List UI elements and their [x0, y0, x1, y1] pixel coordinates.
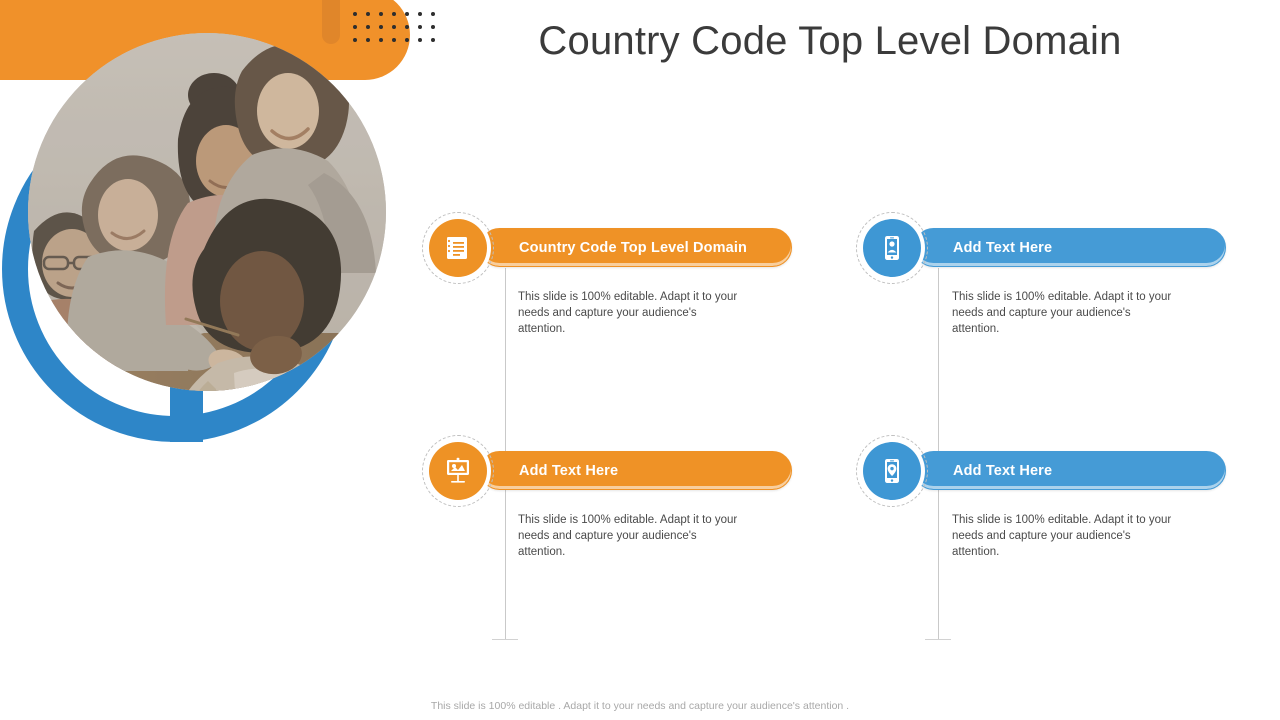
mobile-location-icon[interactable]: [863, 442, 921, 500]
card-3-header-pill[interactable]: Add Text Here: [480, 451, 792, 490]
orange-tab-decor: [322, 0, 340, 44]
card-2-header-pill[interactable]: Add Text Here: [914, 228, 1226, 267]
card-1-header-pill[interactable]: Country Code Top Level Domain: [480, 228, 792, 267]
card-1-title: Country Code Top Level Domain: [519, 240, 747, 256]
team-photo: [28, 33, 386, 391]
document-list-icon[interactable]: [429, 219, 487, 277]
mobile-contact-icon[interactable]: [863, 219, 921, 277]
card-1-description: This slide is 100% editable. Adapt it to…: [518, 289, 744, 338]
dot-grid-decor: [348, 8, 440, 46]
slide-canvas: Country Code Top Level Domain Country Co…: [0, 0, 1280, 720]
presentation-board-icon[interactable]: [429, 442, 487, 500]
card-4-description: This slide is 100% editable. Adapt it to…: [952, 512, 1178, 561]
card-4-title: Add Text Here: [953, 463, 1052, 479]
page-title: Country Code Top Level Domain: [430, 14, 1230, 68]
card-2-description: This slide is 100% editable. Adapt it to…: [952, 289, 1178, 338]
connector-tick-left: [492, 639, 518, 640]
card-4-header-pill[interactable]: Add Text Here: [914, 451, 1226, 490]
card-2-title: Add Text Here: [953, 240, 1052, 256]
slide-footer-note: This slide is 100% editable . Adapt it t…: [0, 700, 1280, 712]
card-3-title: Add Text Here: [519, 463, 618, 479]
card-3-description: This slide is 100% editable. Adapt it to…: [518, 512, 744, 561]
connector-tick-right: [925, 639, 951, 640]
